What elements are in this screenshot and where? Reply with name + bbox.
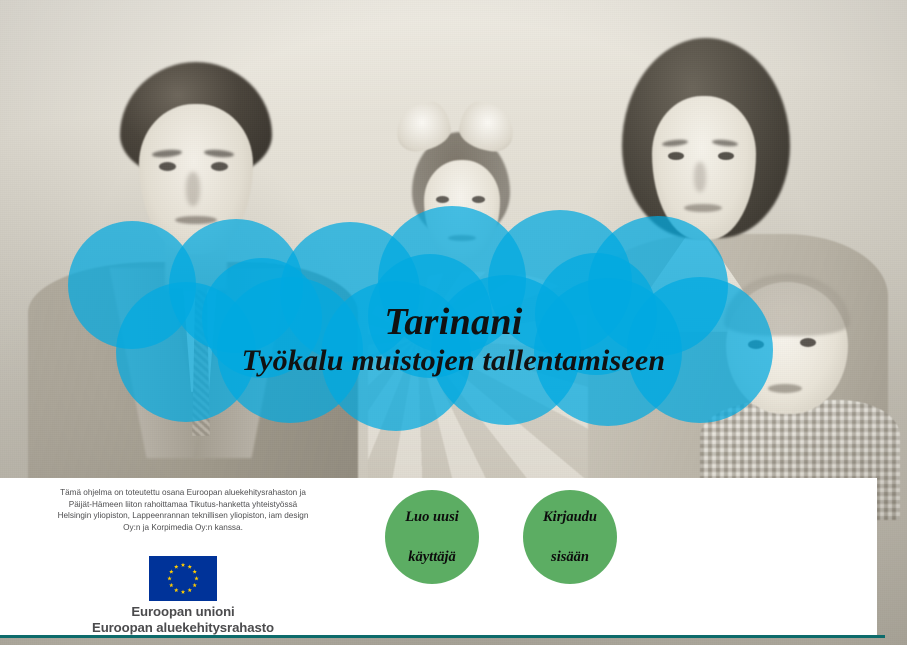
footer-divider [0, 635, 885, 638]
sign-in-label-line1: Kirjaudu [527, 507, 613, 527]
action-buttons: Luo uusi käyttäjä Kirjaudu sisään [385, 490, 625, 590]
sign-in-label-line2: sisään [527, 547, 613, 567]
footer-panel: Tämä ohjelma on toteutettu osana Euroopa… [0, 478, 877, 635]
eu-logo-block: Euroopan unioni Euroopan aluekehitysraha… [18, 556, 348, 635]
create-user-label-line1: Luo uusi [389, 507, 475, 527]
sign-in-button[interactable]: Kirjaudu sisään [523, 490, 617, 584]
eu-caption-line-1: Euroopan unioni [18, 604, 348, 620]
credits-line-1: Tämä ohjelma on toteutettu osana Euroopa… [18, 487, 348, 499]
eu-caption-line-2: Euroopan aluekehitysrahasto [18, 620, 348, 636]
program-credits: Tämä ohjelma on toteutettu osana Euroopa… [18, 487, 348, 533]
credits-line-3: Helsingin yliopiston, Lappeenrannan tekn… [18, 510, 348, 522]
credits-line-4: Oy:n ja Korpimedia Oy:n kanssa. [18, 522, 348, 534]
eu-flag-icon [149, 556, 217, 601]
tarinani-landing-page: Tarinani Työkalu muistojen tallentamisee… [0, 0, 907, 645]
create-user-button[interactable]: Luo uusi käyttäjä [385, 490, 479, 584]
eu-caption: Euroopan unioni Euroopan aluekehitysraha… [18, 604, 348, 635]
create-user-label-line2: käyttäjä [389, 547, 475, 567]
credits-line-2: Päijät-Hämeen liiton rahoittamaa Tikutus… [18, 499, 348, 511]
